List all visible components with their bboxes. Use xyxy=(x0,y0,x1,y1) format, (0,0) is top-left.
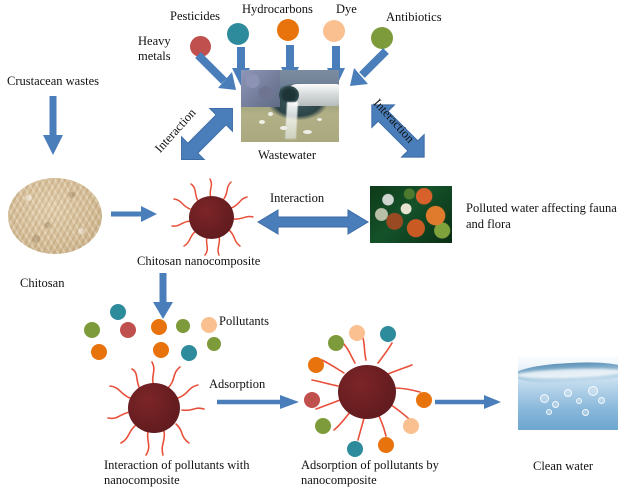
bubble xyxy=(598,397,605,404)
bubble xyxy=(552,401,559,408)
clean-water-photo xyxy=(518,354,618,430)
arrow-crustacean-to-chitosan xyxy=(40,95,66,157)
bubble xyxy=(588,386,598,396)
chitosan-nanocomposite-label: Chitosan nanocomposite xyxy=(137,254,260,268)
source-label-heavy-metals-line1: Heavy xyxy=(138,34,171,48)
wastewater-caption: Wastewater xyxy=(258,148,316,162)
pollutant-dot xyxy=(84,322,100,338)
adsorbed-pollutant-dot xyxy=(328,335,344,351)
polluted-water-caption-line1: Polluted water affecting fauna xyxy=(466,201,617,215)
source-label-hydrocarbons: Hydrocarbons xyxy=(242,2,313,16)
chitosan-powder-photo xyxy=(8,178,102,254)
interaction-pollutants-caption-line2: nanocomposite xyxy=(104,473,180,487)
adsorbed-pollutant-dot xyxy=(349,325,365,341)
arrow-adsorption xyxy=(216,392,300,412)
source-dot-hydrocarbons xyxy=(277,19,299,41)
pollutant-dot xyxy=(151,319,167,335)
arrow-interaction-middle xyxy=(256,208,370,236)
pollutant-dot xyxy=(110,304,126,320)
adsorbed-pollutant-dot xyxy=(378,437,394,453)
bubble xyxy=(582,409,589,416)
pollutant-dot xyxy=(181,345,197,361)
splash-dot xyxy=(259,120,265,124)
chitosan-label: Chitosan xyxy=(20,276,64,290)
pollutant-dot xyxy=(91,344,107,360)
splash-dot xyxy=(303,130,312,134)
nanocomposite-core xyxy=(189,196,234,239)
splash-dot xyxy=(317,118,322,121)
source-label-antibiotics: Antibiotics xyxy=(386,10,442,24)
pollutant-dot xyxy=(120,322,136,338)
source-label-dye: Dye xyxy=(336,2,357,16)
source-dot-pesticides xyxy=(227,23,249,45)
splash-dot xyxy=(268,112,273,116)
adsorption-pollutants-caption-line2: nanocomposite xyxy=(301,473,377,487)
pollutant-dot xyxy=(201,317,217,333)
source-dot-dye xyxy=(323,20,345,42)
chitosan-nanocomposite xyxy=(163,178,259,256)
polluted-water-fauna-flora-photo xyxy=(370,186,452,243)
crustacean-wastes-label: Crustacean wastes xyxy=(7,74,99,88)
nanocomposite-core xyxy=(338,365,396,419)
polluted-water-caption-line2: and flora xyxy=(466,217,511,231)
source-label-pesticides: Pesticides xyxy=(170,9,220,23)
pollutants-label: Pollutants xyxy=(219,314,269,328)
wastewater-photo xyxy=(241,70,339,142)
nanocomposite-with-pollutants xyxy=(98,360,210,456)
source-label-heavy-metals-line2: metals xyxy=(138,49,171,63)
adsorption-label: Adsorption xyxy=(209,377,265,391)
interaction-pollutants-caption-line1: Interaction of pollutants with xyxy=(104,458,249,472)
bubble xyxy=(540,394,549,403)
arrow-to-clean-water xyxy=(434,392,502,412)
arrow-antibiotics-to-wastewater xyxy=(346,48,390,88)
nanocomposite-adsorbed xyxy=(300,330,432,454)
bubble xyxy=(564,389,572,397)
adsorbed-pollutant-dot xyxy=(304,392,320,408)
clean-water-caption: Clean water xyxy=(533,459,593,473)
pollutant-dot xyxy=(176,319,190,333)
bubble xyxy=(576,398,582,404)
source-dot-antibiotics xyxy=(371,27,393,49)
adsorbed-pollutant-dot xyxy=(308,357,324,373)
bubble xyxy=(546,409,552,415)
arrow-chitosan-to-nanocomposite xyxy=(110,203,158,225)
adsorbed-pollutant-dot xyxy=(347,441,363,457)
water-flow xyxy=(285,102,298,139)
pollutant-dot xyxy=(153,342,169,358)
adsorbed-pollutant-dot xyxy=(380,326,396,342)
adsorption-pollutants-caption-line1: Adsorption of pollutants by xyxy=(301,458,439,472)
nanocomposite-core xyxy=(128,383,180,433)
arrow-nanocomposite-to-pollutant-mix xyxy=(151,272,175,320)
pollutant-dot xyxy=(207,337,221,351)
interaction-middle-label: Interaction xyxy=(270,191,324,205)
